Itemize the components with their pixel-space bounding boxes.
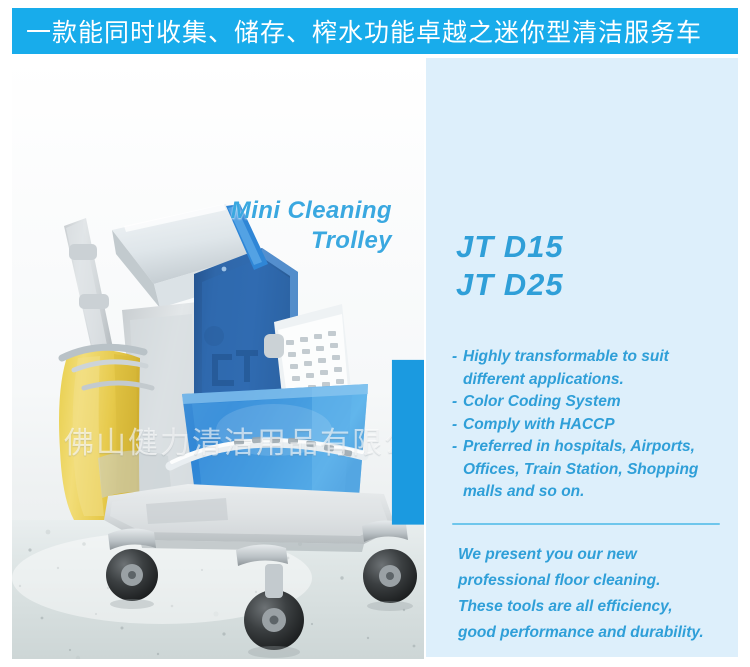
- headline-banner: 一款能同时收集、储存、榨水功能卓越之迷你型清洁服务车: [12, 8, 738, 54]
- section-divider: [452, 523, 720, 525]
- feature-text: Highly transformable to suit different a…: [463, 346, 730, 391]
- bullet-marker: -: [452, 436, 463, 504]
- product-photo: 佛山健力清洁用品有限公司 Italian Design Mini Cleanin…: [12, 58, 424, 659]
- product-info-panel: JT D15 JT D25 - Highly transformable to …: [426, 58, 738, 657]
- poster-page: 一款能同时收集、储存、榨水功能卓越之迷你型清洁服务车: [0, 0, 750, 667]
- feature-list: - Highly transformable to suit different…: [452, 346, 730, 504]
- headline-line-1: Mini Cleaning: [72, 196, 392, 226]
- feature-text: Comply with HACCP: [463, 414, 730, 437]
- paragraph-line: These tools are all efficiency,: [458, 594, 730, 620]
- bullet-marker: -: [452, 414, 463, 437]
- model-number-1: JT D15: [456, 228, 564, 266]
- paragraph-line: good performance and durability.: [458, 620, 730, 646]
- bullet-marker: -: [452, 346, 463, 391]
- feature-text: Preferred in hospitals, Airports, Office…: [463, 436, 730, 504]
- paragraph-line: We present you our new: [458, 542, 730, 568]
- closing-paragraph: We present you our new professional floo…: [458, 542, 730, 646]
- model-numbers: JT D15 JT D25: [456, 228, 564, 304]
- headline-line-2: Trolley: [72, 226, 392, 256]
- ct-brand-logo: Italian Design: [337, 128, 411, 186]
- feature-text: Color Coding System: [463, 391, 730, 414]
- banner-text: 一款能同时收集、储存、榨水功能卓越之迷你型清洁服务车: [12, 13, 702, 49]
- bullet-marker: -: [452, 391, 463, 414]
- product-headline: Mini Cleaning Trolley: [72, 196, 392, 256]
- list-item: - Highly transformable to suit different…: [452, 346, 730, 391]
- list-item: - Preferred in hospitals, Airports, Offi…: [452, 436, 730, 504]
- list-item: - Comply with HACCP: [452, 414, 730, 437]
- paragraph-line: professional floor cleaning.: [458, 568, 730, 594]
- model-number-2: JT D25: [456, 266, 564, 304]
- list-item: - Color Coding System: [452, 391, 730, 414]
